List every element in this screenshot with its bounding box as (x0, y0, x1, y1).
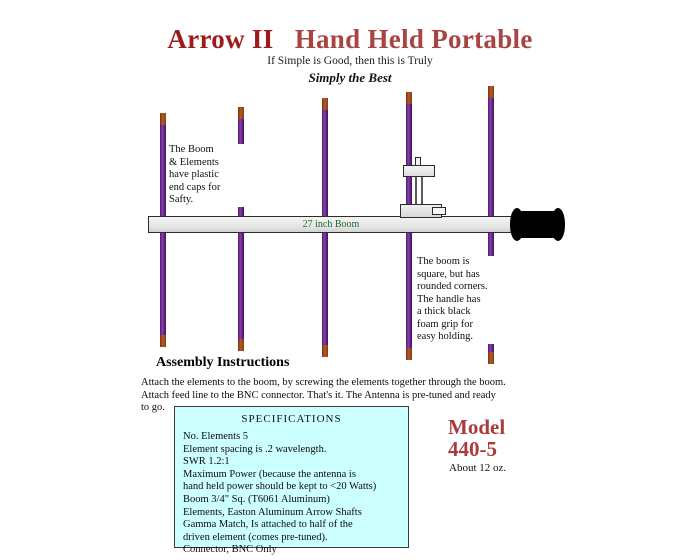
spec-line-5: hand held power should be kept to <20 Wa… (183, 481, 408, 494)
subtitle-line-1: If Simple is Good, then this is Truly (0, 55, 700, 67)
gamma-match-rod-left (415, 176, 417, 206)
spec-line-4: Maximum Power (because the antenna is (183, 469, 408, 482)
callout-end-caps: The Boom& Elementshave plasticend caps f… (169, 144, 261, 207)
boom: 27 inch Boom (148, 216, 514, 233)
assembly-line-1: Attach the elements to the boom, by scre… (141, 377, 576, 390)
callout-end-caps-line-4: end caps for (169, 182, 261, 195)
element-3-end-cap-bottom (322, 345, 328, 357)
bnc-connector-icon (432, 207, 446, 215)
specifications-list: No. Elements 5Element spacing is .2 wave… (183, 431, 408, 557)
callout-boom-handle-line-5: a thick black (417, 306, 513, 319)
callout-boom-handle-line-4: The handle has (417, 294, 513, 307)
page-title-model-line: Hand Held Portable (295, 24, 533, 54)
spec-line-6: Boom 3/4" Sq. (T6061 Aluminum) (183, 494, 408, 507)
assembly-line-2: Attach feed line to the BNC connector. T… (141, 390, 576, 403)
page-title: Arrow II Hand Held Portable (0, 24, 700, 55)
handle-grip-end-right (551, 208, 565, 241)
spec-line-3: SWR 1.2:1 (183, 456, 408, 469)
assembly-instructions-heading: Assembly Instructions (154, 355, 291, 371)
element-5-end-cap-top (488, 86, 494, 98)
callout-boom-handle-line-3: rounded corners. (417, 281, 513, 294)
callout-boom-handle-line-6: foam grip for (417, 319, 513, 332)
element-2-end-cap-bottom (238, 339, 244, 351)
element-4-end-cap-top (406, 92, 412, 104)
specifications-box: SPECIFICATIONS No. Elements 5Element spa… (174, 406, 409, 548)
spec-line-8: Gamma Match, Is attached to half of the (183, 519, 408, 532)
callout-end-caps-line-1: The Boom (169, 144, 261, 157)
callout-boom-handle-line-2: square, but has (417, 269, 513, 282)
callout-boom-and-handle: The boom issquare, but hasrounded corner… (417, 256, 513, 344)
element-1-end-cap-bottom (160, 335, 166, 347)
spec-line-9: driven element (comes pre-tuned). (183, 532, 408, 545)
element-1-end-cap-top (160, 113, 166, 125)
specifications-title: SPECIFICATIONS (175, 413, 408, 425)
model-weight: About 12 oz. (449, 462, 506, 474)
callout-boom-handle-line-1: The boom is (417, 256, 513, 269)
element-3-end-cap-top (322, 98, 328, 110)
spec-line-10: Connector, BNC Only (183, 544, 408, 557)
callout-end-caps-line-2: & Elements (169, 157, 261, 170)
page-title-brand: Arrow II (167, 24, 273, 54)
subtitle-line-2: Simply the Best (0, 70, 700, 86)
spec-line-1: No. Elements 5 (183, 431, 408, 444)
gamma-match-rod-right (421, 176, 423, 206)
callout-end-caps-line-3: have plastic (169, 169, 261, 182)
element-5-end-cap-bottom (488, 352, 494, 364)
model-number: 440-5 (448, 437, 497, 462)
boom-label: 27 inch Boom (149, 217, 513, 232)
antenna-product-page: Arrow II Hand Held Portable If Simple is… (0, 0, 700, 560)
element-4-end-cap-bottom (406, 348, 412, 360)
callout-end-caps-line-5: Safty. (169, 194, 261, 207)
element-2-end-cap-top (238, 107, 244, 119)
spec-line-7: Elements, Easton Aluminum Arrow Shafts (183, 507, 408, 520)
callout-boom-handle-line-7: easy holding. (417, 331, 513, 344)
spec-line-2: Element spacing is .2 wavelength. (183, 444, 408, 457)
gamma-match-top-clamp (403, 165, 435, 177)
